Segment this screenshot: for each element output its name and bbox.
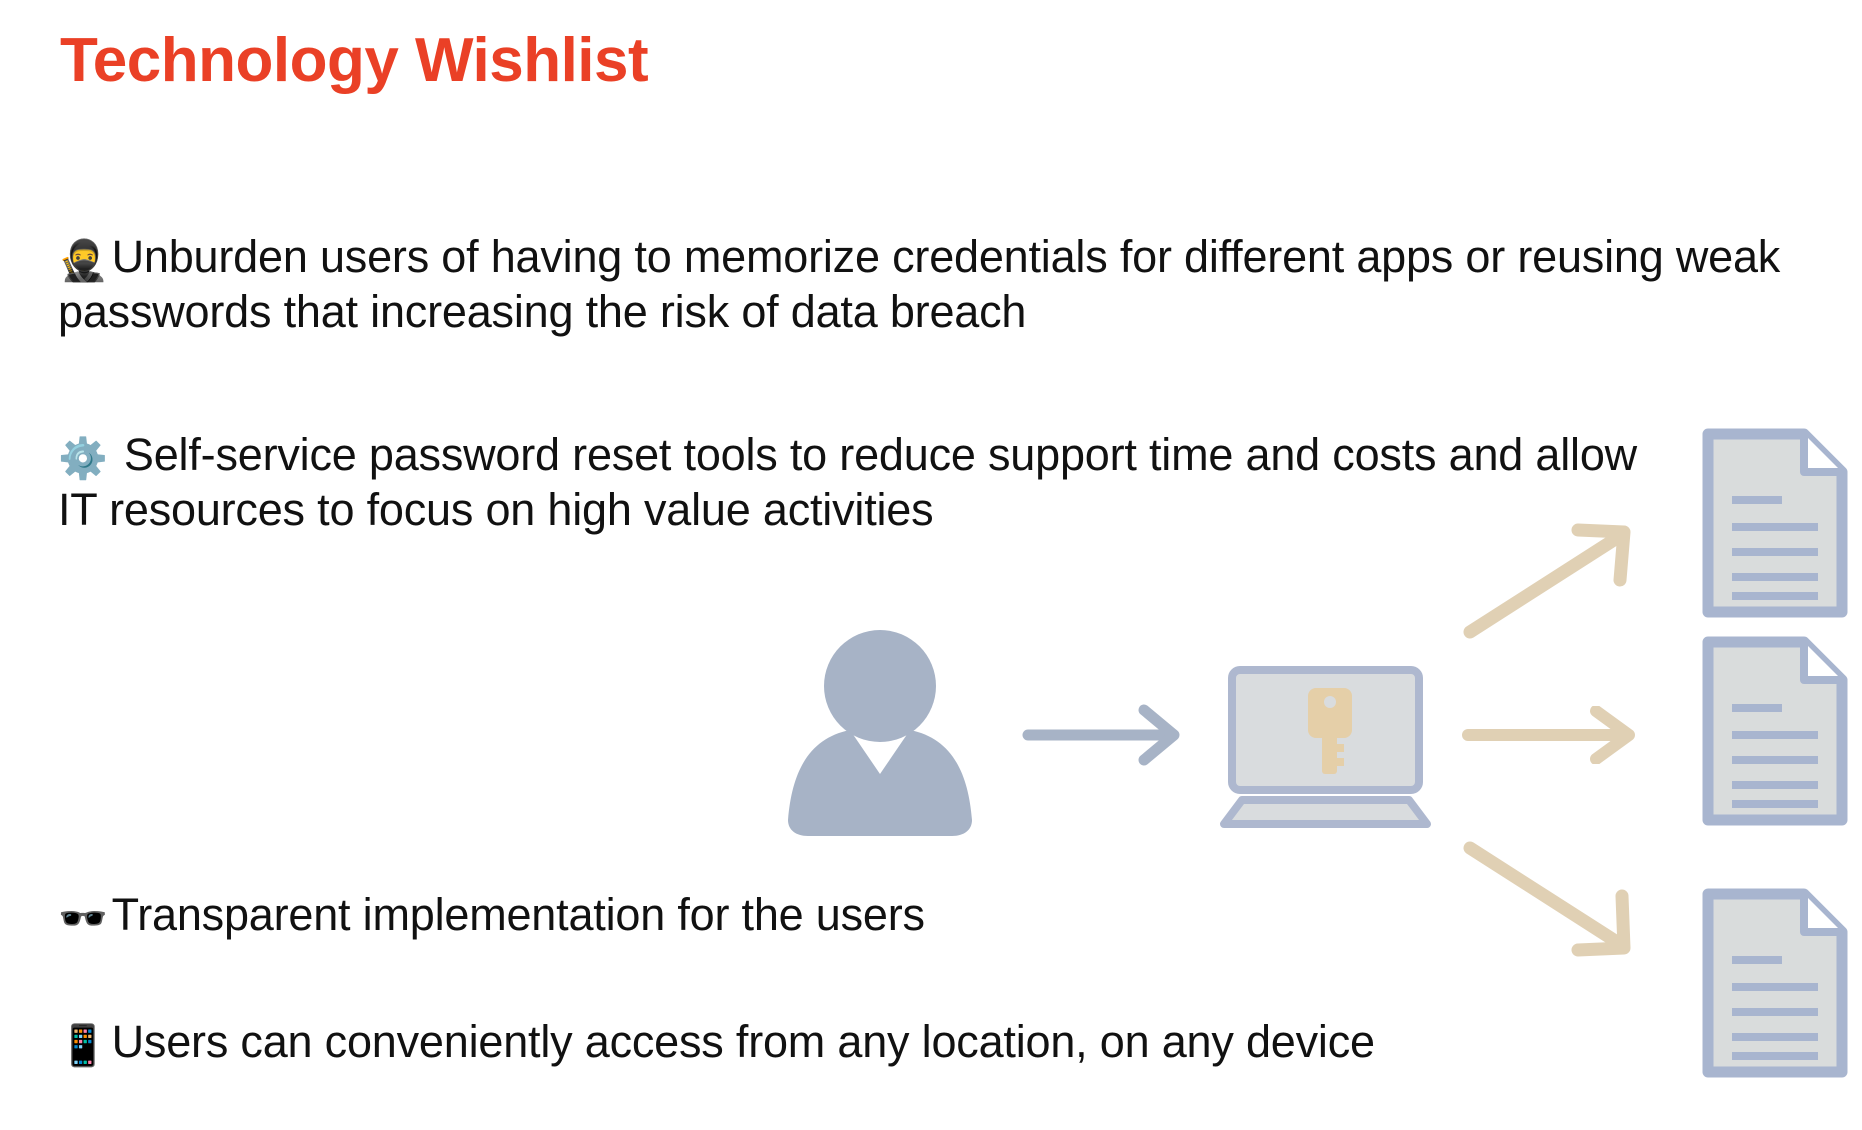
document-icon-top bbox=[1700, 428, 1850, 618]
bullet-item-1: 🥷Unburden users of having to memorize cr… bbox=[58, 230, 1798, 340]
ninja-icon: 🥷 bbox=[58, 238, 108, 284]
bullet-text-2: Self-service password reset tools to red… bbox=[58, 429, 1637, 535]
sunglasses-icon: 🕶️ bbox=[58, 896, 108, 942]
person-icon bbox=[780, 624, 980, 839]
document-icon-bottom bbox=[1700, 888, 1850, 1078]
arrow-laptop-to-doc-bottom-icon bbox=[1462, 840, 1642, 960]
document-icon-middle bbox=[1700, 636, 1850, 826]
laptop-with-key-icon bbox=[1218, 666, 1433, 831]
bullet-text-1: Unburden users of having to memorize cre… bbox=[58, 231, 1780, 337]
arrow-laptop-to-doc-middle-icon bbox=[1462, 706, 1647, 764]
page-title: Technology Wishlist bbox=[60, 28, 648, 93]
bullet-item-4: 📱Users can conveniently access from any … bbox=[58, 1015, 1698, 1070]
slide-canvas: Technology Wishlist 🥷Unburden users of h… bbox=[0, 0, 1862, 1130]
bullet-text-3: Transparent implementation for the users bbox=[112, 889, 925, 940]
gear-icon: ⚙️ bbox=[58, 436, 108, 482]
arrow-user-to-laptop-icon bbox=[1022, 704, 1192, 766]
arrow-laptop-to-doc-top-icon bbox=[1462, 520, 1642, 640]
bullet-item-3: 🕶️Transparent implementation for the use… bbox=[58, 888, 1358, 943]
bullet-text-4: Users can conveniently access from any l… bbox=[112, 1016, 1375, 1067]
bullet-item-2: ⚙️ Self-service password reset tools to … bbox=[58, 428, 1678, 538]
mobile-phone-icon: 📱 bbox=[58, 1023, 108, 1069]
